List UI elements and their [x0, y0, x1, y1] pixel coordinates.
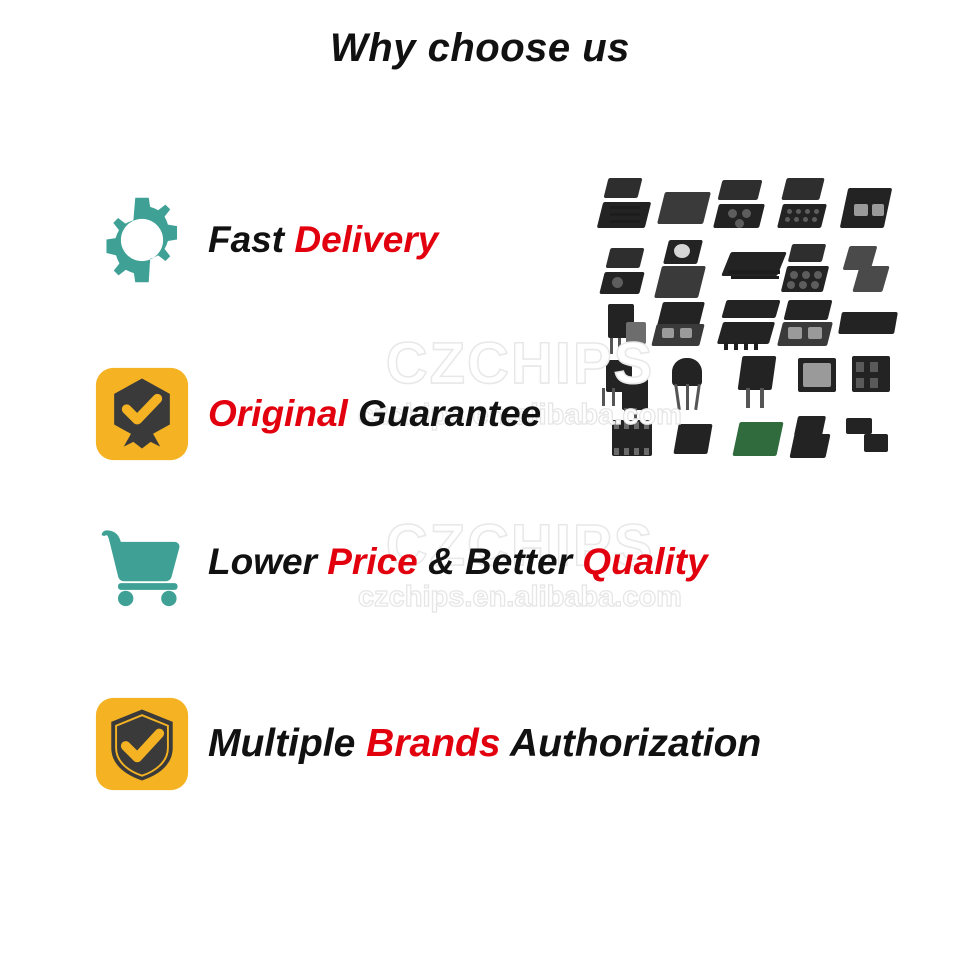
- feature-label-fast-delivery: Fast Delivery: [208, 221, 438, 260]
- promo-banner: Why choose us: [0, 0, 960, 960]
- segment-highlight: Original: [208, 393, 348, 434]
- segment-highlight-1: Price: [327, 541, 418, 582]
- feature-label-multiple-brands: Multiple Brands Authorization: [208, 724, 761, 765]
- segment-plain-2: Authorization: [501, 722, 762, 765]
- feature-label-original-guarantee: Original Guarantee: [208, 395, 541, 434]
- segment-highlight-2: Quality: [582, 541, 707, 582]
- page-title: Why choose us: [0, 26, 960, 71]
- feature-row-lower-price: Lower Price & Better Quality: [88, 508, 708, 616]
- feature-row-multiple-brands: Multiple Brands Authorization: [88, 690, 761, 798]
- segment-highlight: Delivery: [294, 219, 438, 260]
- segment-plain: Guarantee: [348, 393, 541, 434]
- chip-collage-image: [588, 172, 900, 468]
- feature-row-fast-delivery: Fast Delivery: [88, 186, 438, 294]
- segment-plain-2: & Better: [418, 541, 582, 582]
- gear-icon: [88, 186, 196, 294]
- shopping-cart-icon: [88, 508, 196, 616]
- segment-plain-1: Lower: [208, 541, 327, 582]
- segment-plain-1: Multiple: [208, 722, 366, 765]
- shield-check-icon: [88, 690, 196, 798]
- feature-row-original-guarantee: Original Guarantee: [88, 360, 541, 468]
- feature-label-lower-price: Lower Price & Better Quality: [208, 543, 708, 582]
- segment-highlight: Brands: [366, 722, 500, 765]
- segment-plain: Fast: [208, 219, 294, 260]
- badge-check-icon: [88, 360, 196, 468]
